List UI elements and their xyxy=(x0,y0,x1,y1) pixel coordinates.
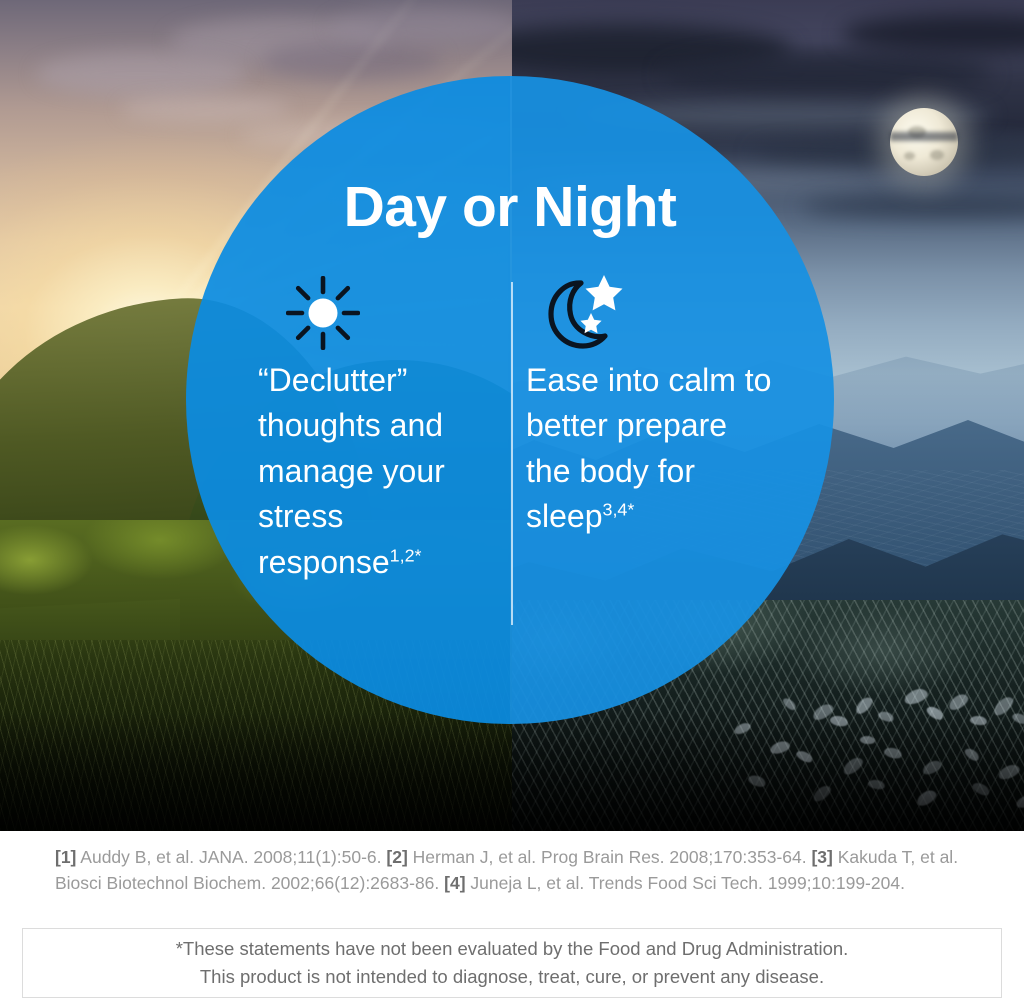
day-superscript: 1,2* xyxy=(390,545,422,565)
cloud xyxy=(330,8,512,44)
footer: [1] Auddy B, et al. JANA. 2008;11(1):50-… xyxy=(0,831,1024,1007)
reference-marker: [4] xyxy=(444,873,465,893)
reference-marker: [3] xyxy=(811,847,832,867)
day-icon-row xyxy=(258,272,504,358)
moon-crater xyxy=(930,150,944,160)
reference-marker: [2] xyxy=(386,847,407,867)
night-column-text: Ease into calm to better prepare the bod… xyxy=(526,358,772,540)
hero-image: Day or Night xyxy=(0,0,1024,831)
day-column: “Declutter” thoughts and manage your str… xyxy=(258,272,504,585)
night-cloud xyxy=(802,196,1024,218)
column-divider xyxy=(511,282,513,625)
reference-text: Juneja L, et al. Trends Food Sci Tech. 1… xyxy=(466,873,905,893)
day-column-text: “Declutter” thoughts and manage your str… xyxy=(258,358,504,585)
fda-disclaimer-box: *These statements have not been evaluate… xyxy=(22,928,1002,998)
night-superscript: 3,4* xyxy=(603,500,635,520)
moon-stars-icon xyxy=(534,273,626,358)
moon-crater xyxy=(904,152,915,160)
references-list: [1] Auddy B, et al. JANA. 2008;11(1):50-… xyxy=(55,845,985,896)
reference-marker: [1] xyxy=(55,847,76,867)
disclaimer-line-1: *These statements have not been evaluate… xyxy=(176,935,849,963)
reference-text: Herman J, et al. Prog Brain Res. 2008;17… xyxy=(408,847,812,867)
cloud-over-moon xyxy=(890,132,958,141)
infographic-root: Day or Night xyxy=(0,0,1024,1007)
reference-text: Auddy B, et al. JANA. 2008;11(1):50-6. xyxy=(76,847,386,867)
circle-content: Day or Night xyxy=(186,76,834,724)
night-cloud xyxy=(842,14,1024,54)
page-title: Day or Night xyxy=(186,179,834,236)
night-column: Ease into calm to better prepare the bod… xyxy=(526,272,772,540)
night-text: Ease into calm to better prepare the bod… xyxy=(526,362,771,534)
night-icon-row xyxy=(526,272,772,358)
sun-icon xyxy=(286,276,360,355)
full-moon xyxy=(890,108,958,176)
disclaimer-line-2: This product is not intended to diagnose… xyxy=(200,963,824,991)
